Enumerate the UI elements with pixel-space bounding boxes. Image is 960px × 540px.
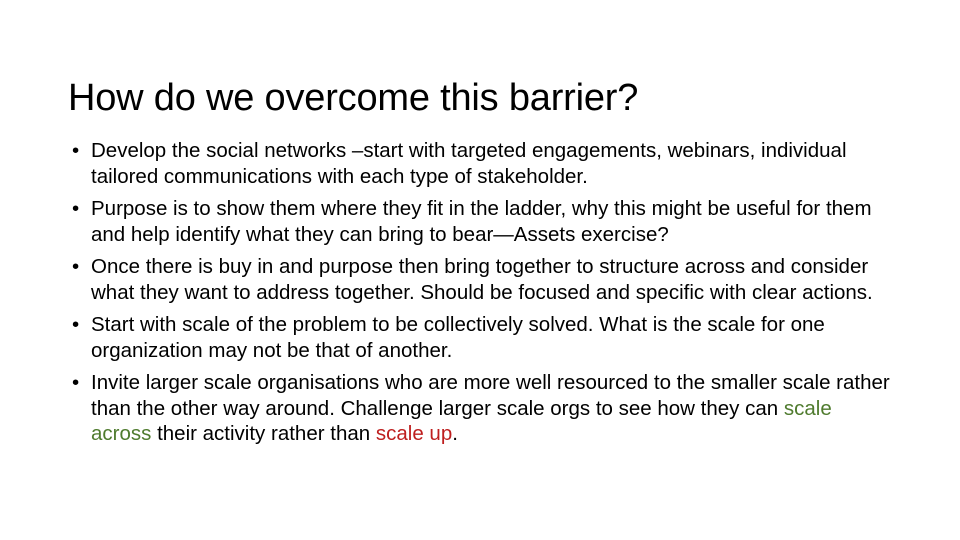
bullet-point-icon: • <box>72 254 79 280</box>
bullet-point-icon: • <box>72 196 79 222</box>
bullet-list-item-2: • Purpose is to show them where they fit… <box>68 196 892 247</box>
bullet-text-5: Invite larger scale organisations who ar… <box>91 370 892 447</box>
bullet-5-middle-text: their activity rather than <box>151 422 375 445</box>
bullet-list-item-5: • Invite larger scale organisations who … <box>68 370 892 447</box>
bullet-text-3: Once there is buy in and purpose then br… <box>91 254 892 305</box>
slide-title: How do we overcome this barrier? <box>68 75 898 121</box>
presentation-slide: How do we overcome this barrier? • Devel… <box>0 0 960 540</box>
bullet-text-4: Start with scale of the problem to be co… <box>91 312 892 363</box>
bullet-list-item-4: • Start with scale of the problem to be … <box>68 312 892 363</box>
bullet-point-icon: • <box>72 138 79 164</box>
bullet-text-1: Develop the social networks –start with … <box>91 138 892 189</box>
slide-body-content: • Develop the social networks –start wit… <box>68 138 892 447</box>
bullet-5-tail-text: . <box>452 422 458 445</box>
bullet-list-item-1: • Develop the social networks –start wit… <box>68 138 892 189</box>
bullet-point-icon: • <box>72 370 79 396</box>
bullet-list-item-3: • Once there is buy in and purpose then … <box>68 254 892 305</box>
highlight-scale-up: scale up <box>376 422 452 445</box>
bullet-text-2: Purpose is to show them where they fit i… <box>91 196 892 247</box>
bullet-point-icon: • <box>72 312 79 338</box>
bullet-5-lead-text: Invite larger scale organisations who ar… <box>91 371 890 420</box>
